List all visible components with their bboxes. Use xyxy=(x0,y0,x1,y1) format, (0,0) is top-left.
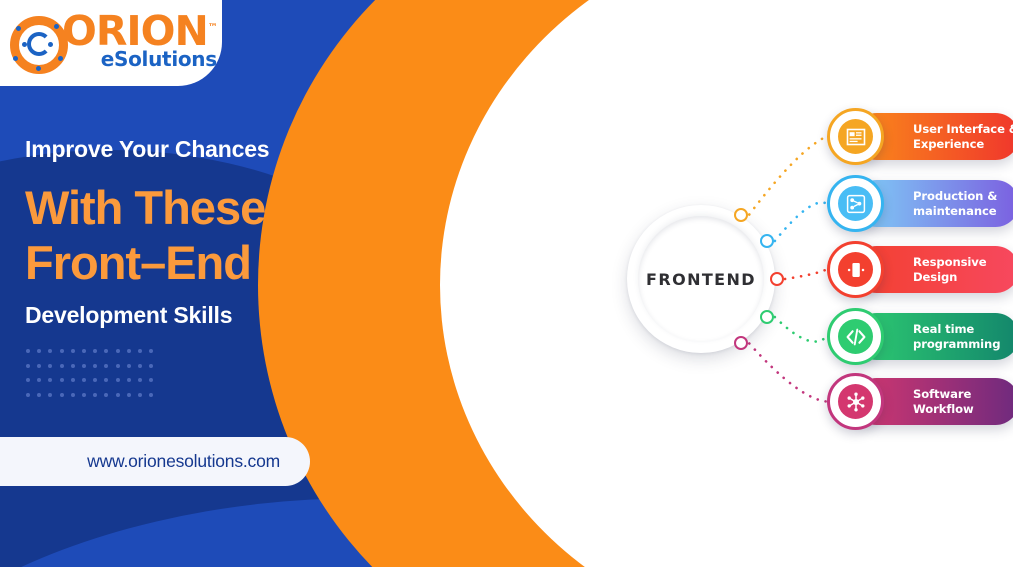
skill-pill-label: Production &maintenance xyxy=(913,189,997,217)
headline-line-1: With These xyxy=(25,181,385,236)
skill-badge xyxy=(827,373,884,430)
skill-badge xyxy=(827,175,884,232)
network-hub-icon xyxy=(838,384,873,419)
website-url-pill[interactable]: www.orionesolutions.com xyxy=(0,437,310,486)
skill-pill-label-line-1: Software xyxy=(913,387,974,401)
skill-badge xyxy=(827,108,884,165)
skill-pill-label: Real timeprogramming xyxy=(913,322,1000,350)
skill-pill-label: ResponsiveDesign xyxy=(913,255,987,283)
skill-pill-label-line-2: Workflow xyxy=(913,402,974,416)
skill-pill[interactable]: User Interface &Experience xyxy=(853,113,1013,160)
decorative-dot-grid xyxy=(26,349,160,407)
skill-pill-label-line-1: Responsive xyxy=(913,255,987,269)
connector-hub-ring xyxy=(760,234,774,248)
skill-pill-label-line-1: Production & xyxy=(913,189,997,203)
skill-pill-label-line-2: maintenance xyxy=(913,204,997,218)
skill-pill-label: User Interface &Experience xyxy=(913,122,1013,150)
headline-line-2: Front–End xyxy=(25,236,385,291)
skill-pill-label-line-2: Experience xyxy=(913,137,1013,151)
headline-block: Improve Your Chances With These Front–En… xyxy=(25,136,385,329)
connector-hub-ring xyxy=(760,310,774,324)
connector-hub-ring xyxy=(734,208,748,222)
skill-badge xyxy=(827,308,884,365)
connector-hub-ring xyxy=(770,272,784,286)
skill-pill-label-line-1: User Interface & xyxy=(913,122,1013,136)
skill-pill-label-line-2: Design xyxy=(913,270,987,284)
code-brackets-icon xyxy=(838,319,873,354)
headline-eyebrow: Improve Your Chances xyxy=(25,136,385,163)
orion-atom-icon xyxy=(10,16,68,74)
skill-pill[interactable]: SoftwareWorkflow xyxy=(853,378,1013,425)
skill-pill[interactable]: Real timeprogramming xyxy=(853,313,1013,360)
poster-canvas: ORION™ eSolutions Improve Your Chances W… xyxy=(0,0,1013,567)
headline-subline: Development Skills xyxy=(25,302,385,329)
trademark-symbol: ™ xyxy=(208,22,217,33)
wireframe-layout-icon xyxy=(838,119,873,154)
logo-plate[interactable]: ORION™ eSolutions xyxy=(0,0,222,86)
skill-badge xyxy=(827,241,884,298)
frontend-core-label: FRONTEND xyxy=(627,205,775,353)
website-url-text: www.orionesolutions.com xyxy=(87,451,280,472)
tablet-device-icon xyxy=(838,252,873,287)
flowchart-icon xyxy=(838,186,873,221)
skill-pill[interactable]: ResponsiveDesign xyxy=(853,246,1013,293)
frontend-core-circle: FRONTEND xyxy=(627,205,775,353)
skill-pill[interactable]: Production &maintenance xyxy=(853,180,1013,227)
skill-pill-label-line-2: programming xyxy=(913,337,1000,351)
skill-pill-label: SoftwareWorkflow xyxy=(913,387,974,415)
skill-pill-label-line-1: Real time xyxy=(913,322,1000,336)
